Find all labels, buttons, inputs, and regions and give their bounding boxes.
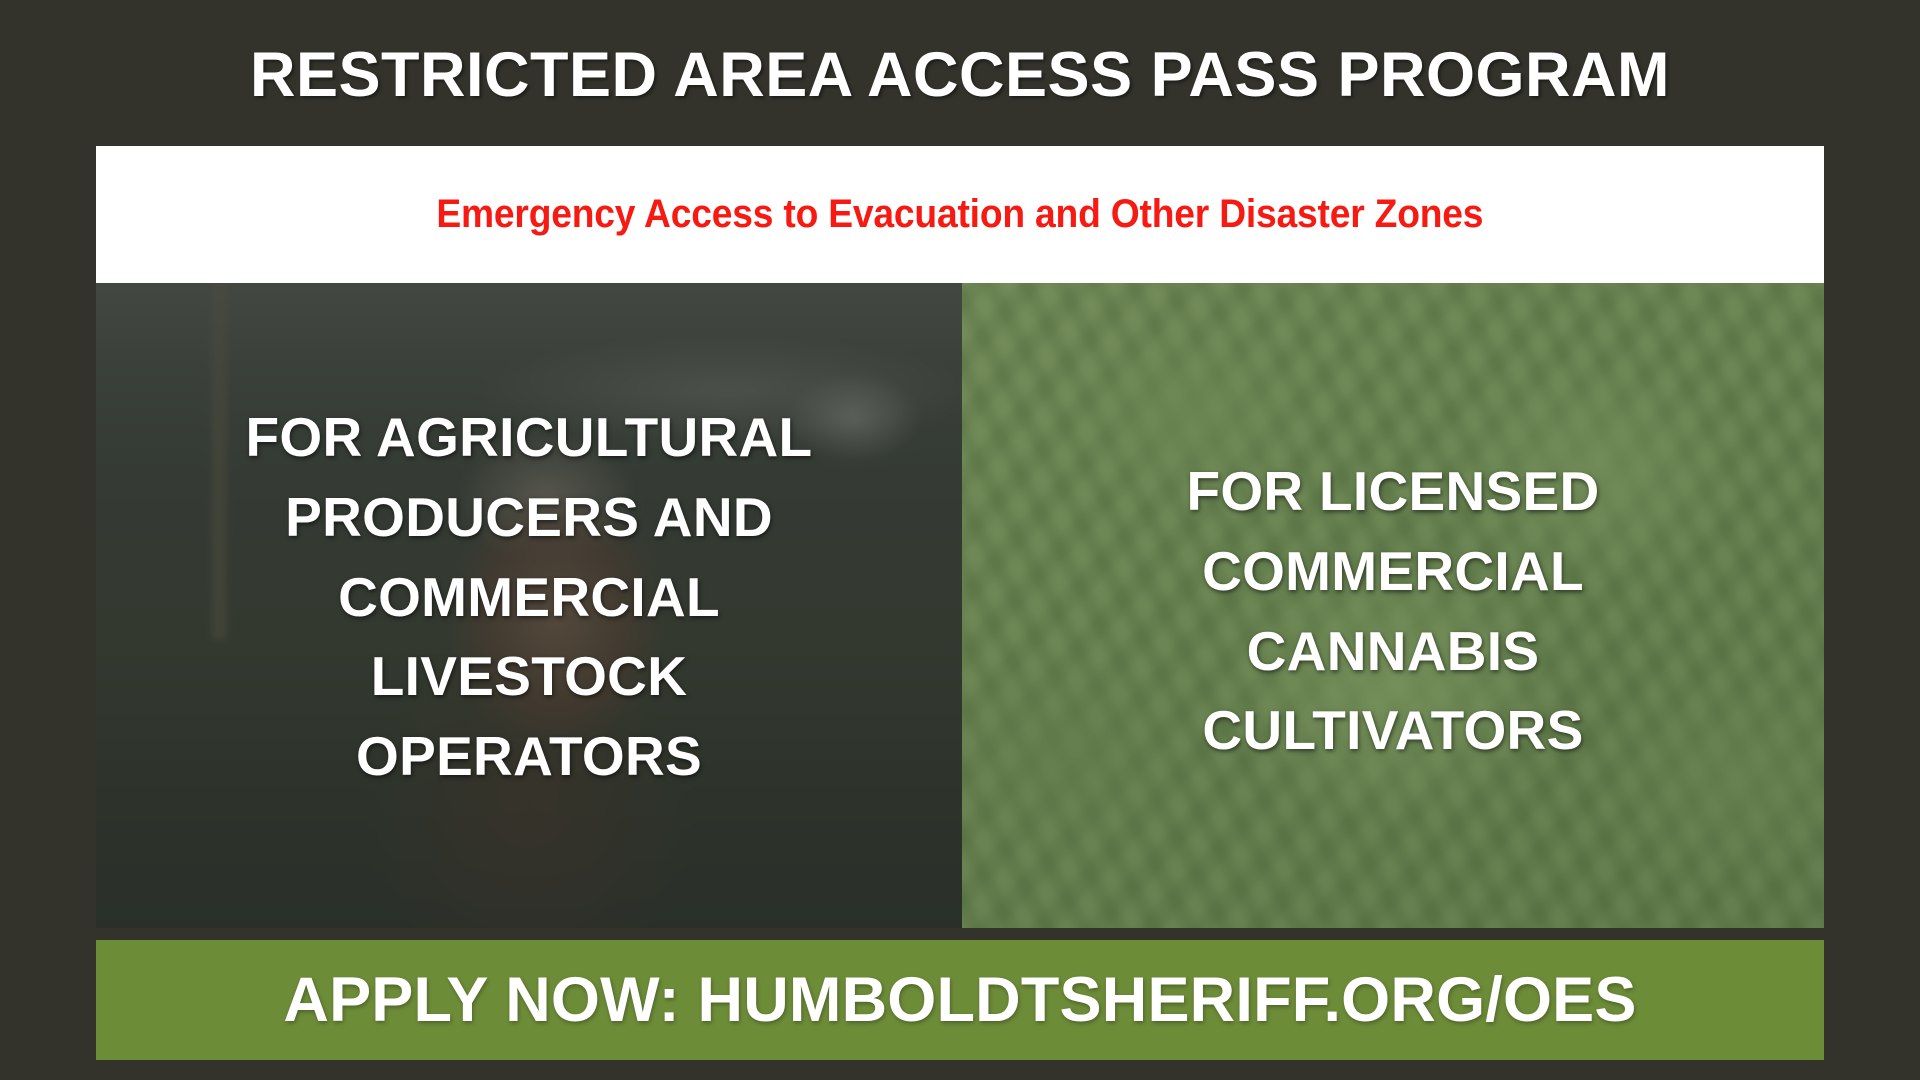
panel-agricultural: FOR AGRICULTURAL PRODUCERS AND COMMERCIA…	[96, 283, 962, 928]
subtitle-band: Emergency Access to Evacuation and Other…	[96, 146, 1824, 283]
caption-line: OPERATORS	[356, 717, 702, 797]
caption-line: COMMERCIAL	[338, 558, 720, 638]
panel-cannabis-caption: FOR LICENSED COMMERCIAL CANNABIS CULTIVA…	[962, 289, 1824, 928]
poster-root: RESTRICTED AREA ACCESS PASS PROGRAM Emer…	[0, 0, 1920, 1080]
caption-line: LIVESTOCK	[371, 637, 687, 717]
caption-line: PRODUCERS AND	[285, 478, 773, 558]
page-title: RESTRICTED AREA ACCESS PASS PROGRAM	[250, 42, 1670, 108]
panel-cannabis: FOR LICENSED COMMERCIAL CANNABIS CULTIVA…	[962, 283, 1824, 928]
apply-now-bar[interactable]: APPLY NOW: HUMBOLDTSHERIFF.ORG/OES	[96, 940, 1824, 1060]
caption-line: FOR AGRICULTURAL	[246, 398, 813, 478]
caption-line: CANNABIS	[1247, 612, 1540, 692]
apply-now-label: APPLY NOW: HUMBOLDTSHERIFF.ORG/OES	[283, 964, 1636, 1036]
subtitle-text: Emergency Access to Evacuation and Other…	[437, 192, 1484, 237]
panel-group: FOR AGRICULTURAL PRODUCERS AND COMMERCIA…	[96, 283, 1824, 928]
panel-agricultural-caption: FOR AGRICULTURAL PRODUCERS AND COMMERCIA…	[96, 283, 962, 920]
title-bar: RESTRICTED AREA ACCESS PASS PROGRAM	[96, 16, 1824, 134]
caption-line: FOR LICENSED	[1186, 452, 1599, 532]
caption-line: CULTIVATORS	[1202, 691, 1583, 771]
caption-line: COMMERCIAL	[1202, 532, 1584, 612]
